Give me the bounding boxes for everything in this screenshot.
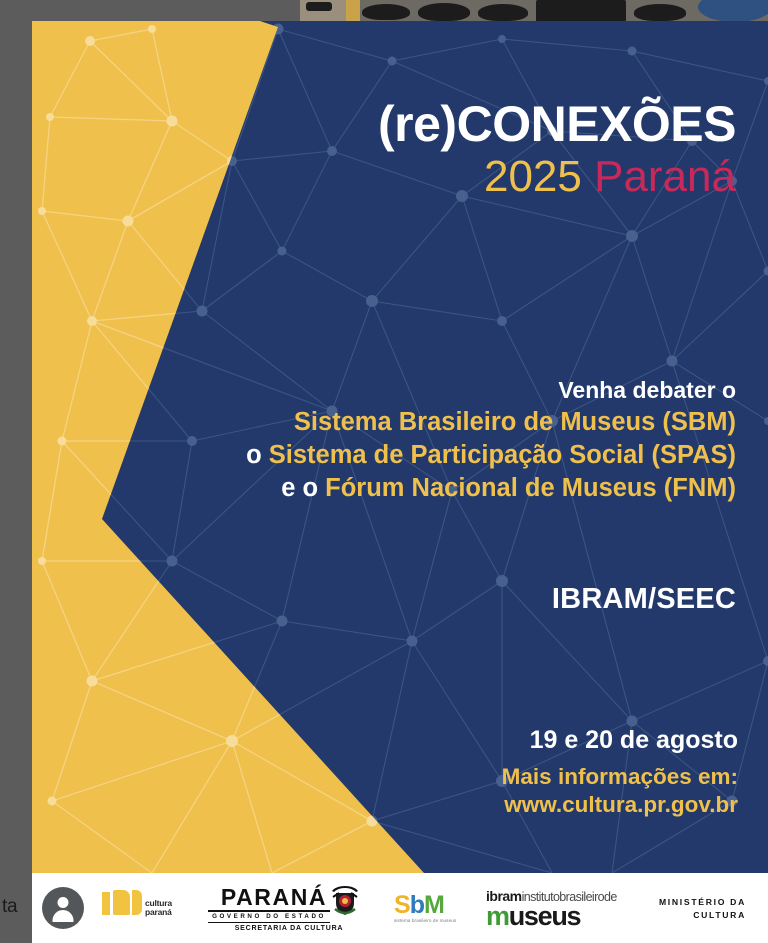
partial-photo-above-poster: [300, 0, 768, 22]
event-dates: 19 e 20 de agosto: [502, 725, 738, 757]
avatar-head-shape: [58, 897, 69, 908]
sbm-letter-m: M: [424, 891, 444, 919]
headline-prefix: (re): [378, 96, 457, 152]
subhead-sbm: Sistema Brasileiro de Museus (SBM): [294, 408, 736, 436]
clipped-page-text: ta: [2, 896, 17, 918]
logo-sbm-sistema-brasileiro-de-museus: SbM sistema brasileiro de museus: [392, 887, 466, 929]
uniao-reconstrucao-label: UNIÃO E RECONSTRUÇÃO: [764, 923, 768, 930]
cultura-mark-bar-1: [102, 892, 110, 915]
sbm-caption: sistema brasileiro de museus: [394, 918, 456, 923]
logo-governo-do-estado-parana: PARANÁ GOVERNO DO ESTADO SECRETARIA DA C…: [204, 882, 374, 934]
subhead-lead-2: o: [246, 441, 269, 469]
subhead-line-3: e o Fórum Nacional de Museus (FNM): [246, 472, 736, 505]
cultura-mark-bar-2: [113, 890, 130, 915]
parana-governo-label: GOVERNO DO ESTADO: [208, 913, 330, 920]
logo-cultura-parana: cultura paraná: [102, 888, 180, 928]
poster-footer-logo-bar: cultura paraná PARANÁ GOVERNO DO ESTADO …: [32, 873, 768, 943]
poster-artwork: (re)CONEXÕES 2025 Paraná Venha debater o…: [32, 21, 768, 873]
event-poster: (re)CONEXÕES 2025 Paraná Venha debater o…: [32, 21, 768, 943]
user-avatar-icon[interactable]: [42, 887, 84, 929]
subhead-spas: Sistema de Participação Social (SPAS): [269, 441, 736, 469]
subhead-line-1: Sistema Brasileiro de Museus (SBM): [246, 406, 736, 439]
ministerio-line-2: CULTURA: [640, 910, 746, 920]
parana-coat-of-arms-icon: [330, 883, 360, 917]
sbm-letter-b: b: [410, 891, 424, 919]
subhead-line-2: o Sistema de Participação Social (SPAS): [246, 439, 736, 472]
headline-title: (re)CONEXÕES: [378, 99, 736, 149]
parana-rule-bottom: [208, 922, 330, 923]
poster-headline: (re)CONEXÕES 2025 Paraná: [378, 99, 736, 199]
logo-ibram-museus: ibraminstitutobrasileirode museus: [486, 886, 618, 930]
museus-letter-m: m: [486, 901, 509, 931]
museus-rest: useus: [509, 901, 581, 931]
logo-governo-federal-brasil: GOVERNO FEDERAL: [764, 882, 768, 934]
sbm-wordmark: SbM: [394, 891, 444, 920]
governo-federal-label: GOVERNO FEDERAL: [764, 882, 768, 891]
cultura-label-line-2: paraná: [145, 907, 172, 917]
headline-subtitle: 2025 Paraná: [378, 155, 736, 199]
sbm-letter-s: S: [394, 891, 410, 919]
poster-organizers: IBRAM/SEEC: [552, 583, 736, 616]
parana-rule-top: [208, 910, 330, 912]
event-website[interactable]: www.cultura.pr.gov.br: [502, 791, 738, 819]
page-left-gutter: [0, 0, 32, 943]
parana-secretaria-label: SECRETARIA DA CULTURA: [204, 925, 374, 932]
museus-wordmark: museus: [486, 901, 580, 932]
poster-event-details: 19 e 20 de agosto Mais informações em: w…: [502, 725, 738, 819]
poster-subhead: Venha debater o Sistema Brasileiro de Mu…: [246, 376, 736, 505]
avatar-body-shape: [53, 910, 74, 922]
poster-copy: (re)CONEXÕES 2025 Paraná Venha debater o…: [32, 21, 768, 873]
subhead-fnm: Fórum Nacional de Museus (FNM): [325, 474, 736, 502]
headline-year: 2025: [484, 152, 582, 201]
screenshot-root: ta: [0, 0, 768, 943]
logo-ministerio-da-cultura: MINISTÉRIO DA CULTURA: [640, 897, 746, 920]
subhead-intro: Venha debater o: [246, 376, 736, 406]
subhead-lead-3: e o: [281, 474, 325, 502]
cultura-mark-bar-3: [132, 890, 142, 915]
headline-main: CONEXÕES: [457, 96, 736, 152]
headline-state: Paraná: [594, 152, 736, 201]
more-info-label: Mais informações em:: [502, 763, 738, 791]
ministerio-line-1: MINISTÉRIO DA: [640, 897, 746, 907]
